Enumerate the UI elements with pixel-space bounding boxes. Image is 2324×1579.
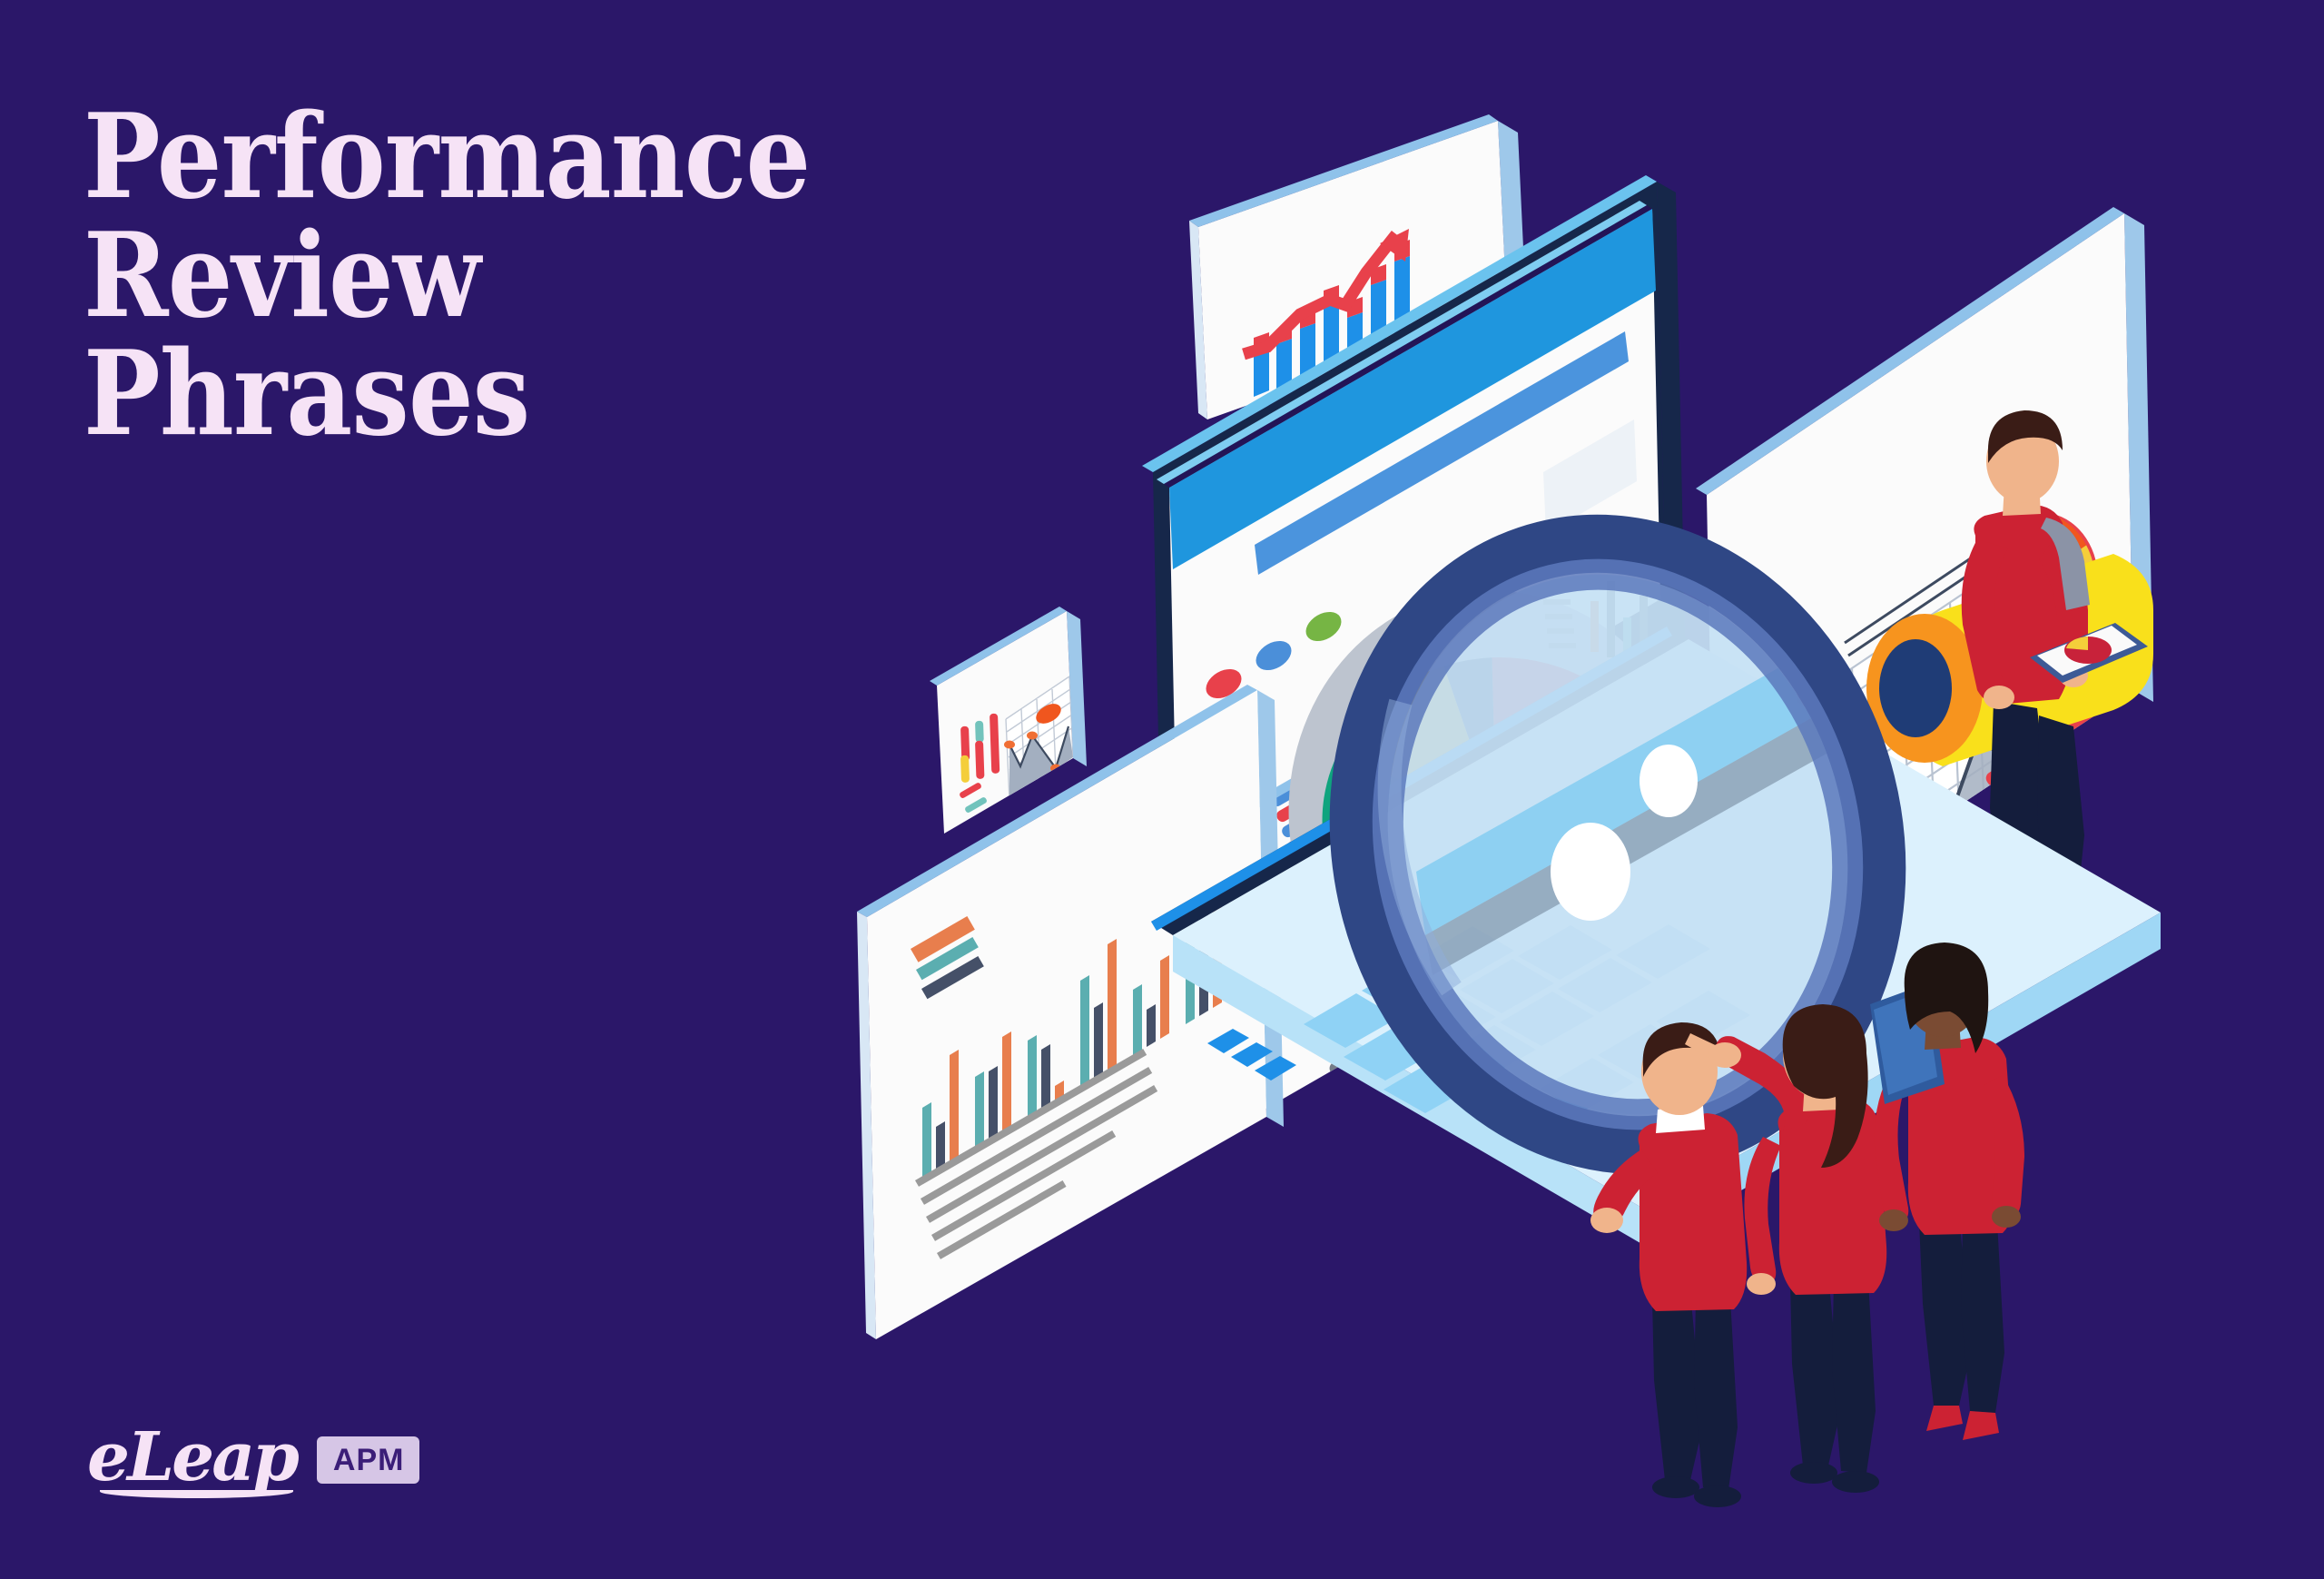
logo-wordmark: eLeap — [87, 1424, 297, 1496]
apm-badge: APM — [317, 1436, 420, 1484]
left-dashboard-panel — [857, 685, 1284, 1339]
page-title: Performance Review Phrases — [84, 98, 1122, 454]
brand-logo[interactable]: eLeap APM — [87, 1424, 419, 1496]
poster-canvas: Performance Review Phrases eLeap APM — [0, 0, 2324, 1579]
